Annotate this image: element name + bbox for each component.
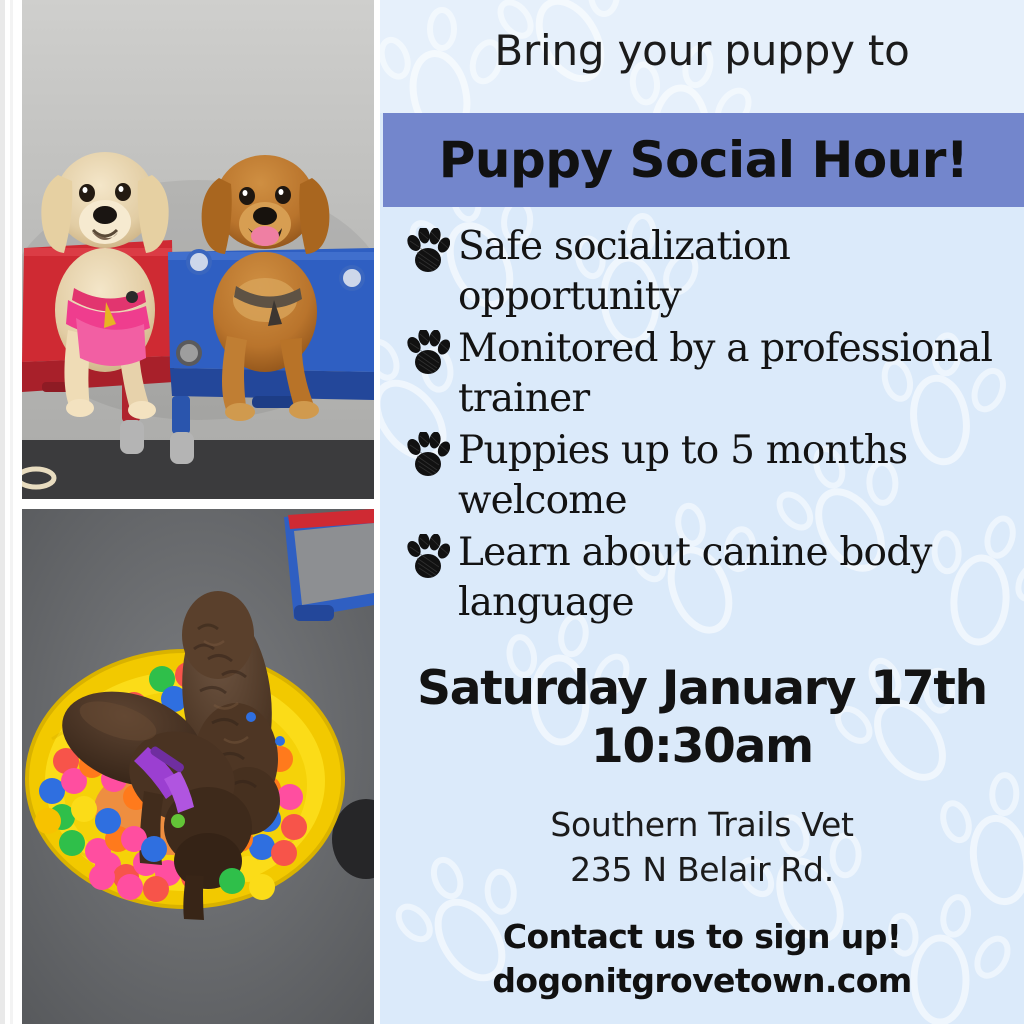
pre-title: Bring your puppy to: [380, 26, 1024, 75]
paw-print-icon: [406, 228, 450, 274]
photo-golden-retriever-puppies: [22, 0, 374, 499]
event-datetime: Saturday January 17th 10:30am: [380, 660, 1024, 776]
event-date: Saturday January 17th: [380, 660, 1024, 718]
page-title: Puppy Social Hour!: [383, 113, 1024, 207]
list-item-label: Safe socialization opportunity: [458, 222, 1024, 322]
photo-puppies-in-ball-pit: [22, 509, 374, 1024]
venue-address: 235 N Belair Rd.: [380, 847, 1024, 892]
list-item-label: Monitored by a professional trainer: [458, 324, 1024, 424]
list-item: Puppies up to 5 months welcome: [406, 426, 1024, 526]
paw-print-icon: [406, 330, 450, 376]
list-item: Safe socialization opportunity: [406, 222, 1024, 322]
contact-website[interactable]: dogonitgrovetown.com: [380, 959, 1024, 1003]
list-item-label: Puppies up to 5 months welcome: [458, 426, 1024, 526]
list-item: Monitored by a professional trainer: [406, 324, 1024, 424]
benefits-list: Safe socialization opportunity: [406, 222, 1024, 630]
puppy-social-hour-flyer: Bring your puppy to Puppy Social Hour! $…: [0, 0, 1024, 1024]
paw-print-icon: [406, 432, 450, 478]
contact-prompt: Contact us to sign up!: [380, 915, 1024, 959]
list-item: Learn about canine body language: [406, 528, 1024, 628]
list-item-label: Learn about canine body language: [458, 528, 1024, 628]
photo-column: [0, 0, 380, 1024]
contact-info: Contact us to sign up! dogonitgrovetown.…: [380, 915, 1024, 1003]
venue-name: Southern Trails Vet: [380, 802, 1024, 847]
content-column: Bring your puppy to Puppy Social Hour! $…: [380, 0, 1024, 1024]
paw-print-icon: [406, 534, 450, 580]
venue-info: Southern Trails Vet 235 N Belair Rd.: [380, 802, 1024, 892]
event-time: 10:30am: [380, 718, 1024, 776]
